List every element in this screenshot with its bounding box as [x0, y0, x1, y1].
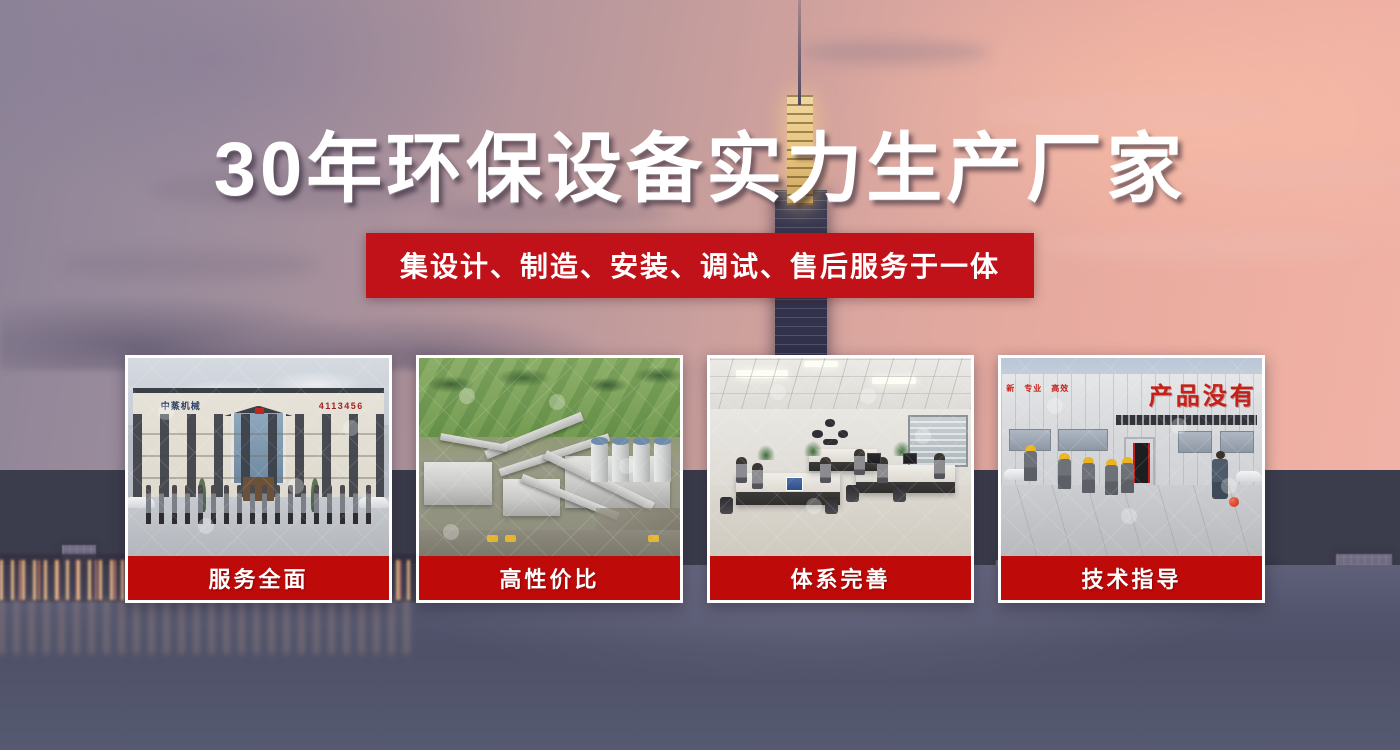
subtitle-badge: 集设计、制造、安装、调试、售后服务于一体: [366, 233, 1034, 298]
card-photo-office: [710, 358, 971, 556]
factory-wall-small-slogans: 新 专业 高效: [1006, 384, 1069, 394]
card-photo-aerial-plant: [419, 358, 680, 556]
building-sign-text: 中蒸机械: [161, 399, 201, 412]
feature-card-guidance[interactable]: 产品没有 新 专业 高效: [998, 355, 1265, 603]
cloud: [800, 40, 990, 64]
building-sign: 中蒸机械: [161, 400, 251, 411]
slogan-b: 专业: [1024, 384, 1042, 394]
card-photo-headquarters: 中蒸机械 4113456: [128, 358, 389, 556]
feature-card-value[interactable]: 高性价比: [416, 355, 683, 603]
card-label-guidance: 技术指导: [1001, 556, 1262, 600]
feature-card-row: 中蒸机械 4113456: [125, 355, 1275, 603]
feature-card-service[interactable]: 中蒸机械 4113456: [125, 355, 392, 603]
red-helmet-icon: [1229, 497, 1239, 507]
card-photo-factory: 产品没有 新 专业 高效: [1001, 358, 1262, 556]
light-reflections: [0, 598, 420, 654]
tower-antenna-mast: [798, 0, 801, 105]
hero-banner: 30年环保设备实力生产厂家 集设计、制造、安装、调试、售后服务于一体 中蒸机械 …: [0, 0, 1400, 750]
page-title: 30年环保设备实力生产厂家: [0, 132, 1400, 208]
card-label-service: 服务全面: [128, 556, 389, 600]
building-phone-text: 4113456: [319, 401, 364, 411]
staff-row: [146, 485, 370, 525]
subtitle-wrap: 集设计、制造、安装、调试、售后服务于一体: [0, 233, 1400, 298]
card-label-value: 高性价比: [419, 556, 680, 600]
factory-wall-slogan: 产品没有: [1149, 376, 1257, 411]
feature-card-system[interactable]: 体系完善: [707, 355, 974, 603]
cloud: [980, 95, 1280, 129]
slogan-a: 新: [1006, 384, 1015, 394]
card-label-system: 体系完善: [710, 556, 971, 600]
slogan-c: 高效: [1051, 384, 1069, 394]
